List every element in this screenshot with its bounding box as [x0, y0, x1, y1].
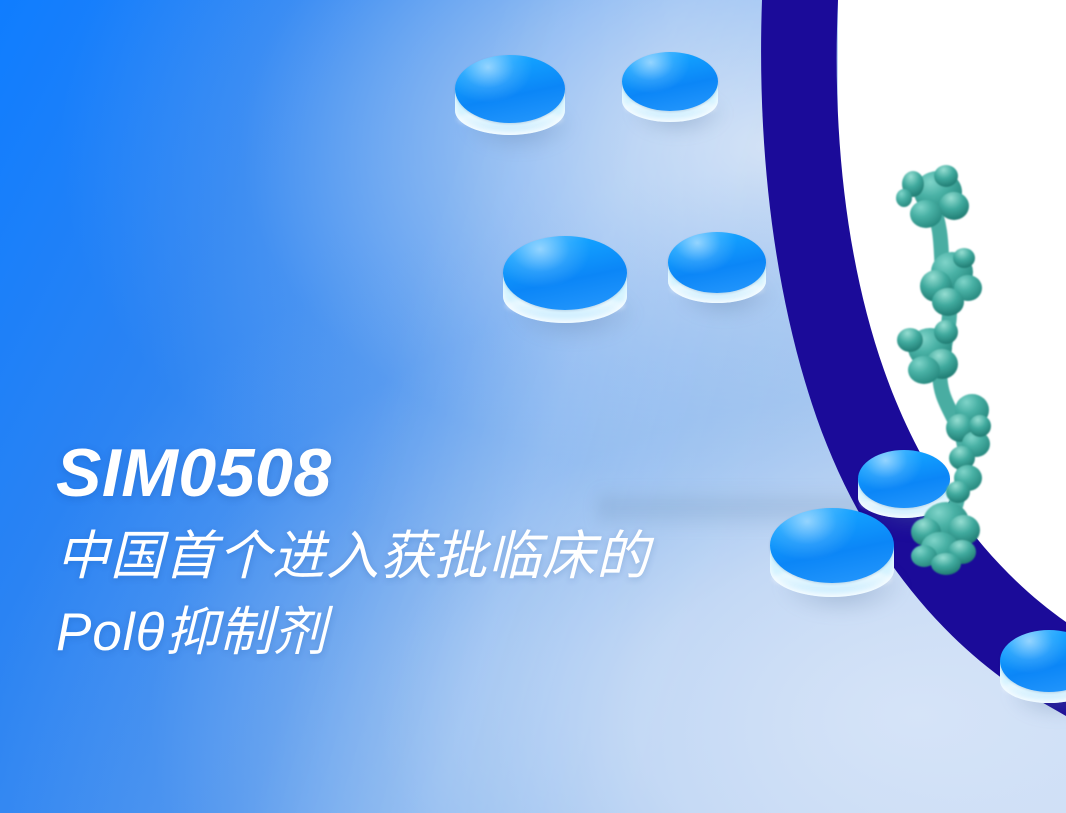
molecule-lobe	[920, 248, 982, 316]
tablet-2	[622, 52, 718, 132]
headline-block: SIM0508 中国首个进入获批临床的 Polθ抑制剂	[56, 438, 896, 670]
tablet-top	[503, 236, 627, 310]
tablet-1	[455, 55, 565, 147]
tablet-top	[455, 55, 565, 123]
subtitle-line-1: 中国首个进入获批临床的	[56, 519, 896, 594]
poster-canvas: SIM0508 中国首个进入获批临床的 Polθ抑制剂	[0, 0, 1066, 813]
molecule-lobe	[911, 502, 980, 575]
tablet-4	[668, 232, 766, 314]
molecule-lobe	[897, 320, 958, 384]
molecule-chain	[896, 165, 991, 575]
tablet-3	[503, 236, 627, 336]
molecule-lobe	[896, 165, 969, 228]
tablet-top	[622, 52, 718, 111]
page-title: SIM0508	[56, 438, 896, 509]
tablet-7	[1000, 630, 1066, 714]
subtitle-line-2: Polθ抑制剂	[56, 595, 896, 670]
molecule-lobe	[946, 465, 982, 503]
protein-molecule	[880, 152, 1066, 572]
page-subtitle: 中国首个进入获批临床的 Polθ抑制剂	[56, 519, 896, 670]
tablet-top	[668, 232, 766, 293]
